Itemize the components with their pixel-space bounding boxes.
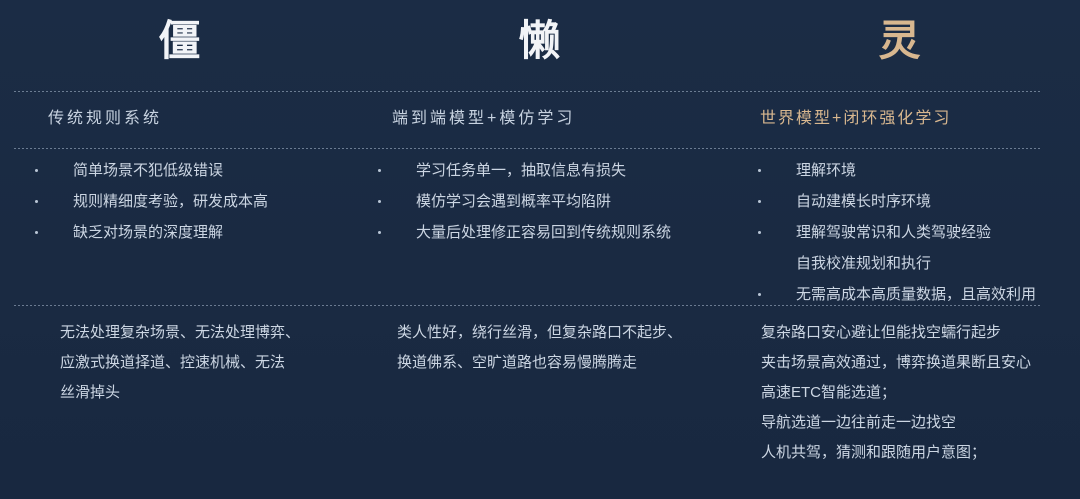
list-item: 大量后处理修正容易回到传统规则系统 [373, 217, 720, 248]
footer-line: 高速ETC智能选道； [761, 378, 1072, 408]
bullet-dot-icon [378, 169, 381, 172]
bullet-list: 学习任务单一，抽取信息有损失 模仿学习会遇到概率平均陷阱 大量后处理修正容易回到… [360, 155, 720, 248]
list-item: 学习任务单一，抽取信息有损失 [373, 155, 720, 186]
footer-line: 导航选道一边往前走一边找空 [761, 408, 1072, 438]
bullet-dot-icon [35, 169, 38, 172]
bullet-dot-icon [758, 200, 761, 203]
column-footer: 类人性好，绕行丝滑，但复杂路口不起步、 换道佛系、空旷道路也容易慢腾腾走 [360, 318, 720, 378]
column-subtitle: 传统规则系统 [0, 104, 360, 134]
column-headline-glyph: 灵 [720, 14, 1080, 68]
list-item-label: 缺乏对场景的深度理解 [73, 224, 223, 241]
list-item: 理解环境 [753, 155, 1080, 186]
column-headline-glyph: 僵 [0, 14, 360, 68]
list-item: 理解驾驶常识和人类驾驶经验 [753, 217, 1080, 248]
list-item: 无需高成本高质量数据，且高效利用 [753, 279, 1080, 310]
bullet-dot-icon [758, 231, 761, 234]
list-item-label: 自动建模长时序环境 [796, 193, 931, 210]
list-item-continuation: 自我校准规划和执行 [753, 248, 1080, 279]
bullet-dot-icon [758, 293, 761, 296]
list-item-label: 理解环境 [796, 162, 856, 179]
footer-line: 夹击场景高效通过，博弈换道果断且安心 [761, 348, 1072, 378]
footer-line: 人机共驾，猜测和跟随用户意图； [761, 438, 1072, 468]
column-footer: 复杂路口安心避让但能找空蠕行起步 夹击场景高效通过，博弈换道果断且安心 高速ET… [720, 318, 1080, 468]
list-item: 缺乏对场景的深度理解 [30, 217, 360, 248]
list-item-label: 简单场景不犯低级错误 [73, 162, 223, 179]
list-item-label: 理解驾驶常识和人类驾驶经验 [796, 224, 991, 241]
column-jiang: 僵 传统规则系统 简单场景不犯低级错误 规则精细度考验，研发成本高 缺乏对场景的… [0, 0, 360, 499]
column-headline-glyph: 懒 [360, 14, 720, 68]
footer-line: 应激式换道择道、控速机械、无法 [60, 348, 352, 378]
bullet-dot-icon [378, 231, 381, 234]
column-subtitle: 端到端模型+模仿学习 [360, 104, 720, 134]
list-item-label: 模仿学习会遇到概率平均陷阱 [416, 193, 611, 210]
footer-line: 复杂路口安心避让但能找空蠕行起步 [761, 318, 1072, 348]
list-item: 简单场景不犯低级错误 [30, 155, 360, 186]
list-item-label: 学习任务单一，抽取信息有损失 [416, 162, 626, 179]
list-item-label: 规则精细度考验，研发成本高 [73, 193, 268, 210]
bullet-dot-icon [378, 200, 381, 203]
list-item-label: 自我校准规划和执行 [796, 255, 931, 272]
slide-canvas: 僵 传统规则系统 简单场景不犯低级错误 规则精细度考验，研发成本高 缺乏对场景的… [0, 0, 1080, 499]
footer-line: 类人性好，绕行丝滑，但复杂路口不起步、 [397, 318, 712, 348]
footer-line: 换道佛系、空旷道路也容易慢腾腾走 [397, 348, 712, 378]
bullet-list: 理解环境 自动建模长时序环境 理解驾驶常识和人类驾驶经验 自我校准规划和执行 无… [720, 155, 1080, 310]
column-footer: 无法处理复杂场景、无法处理博弈、 应激式换道择道、控速机械、无法 丝滑掉头 [0, 318, 360, 408]
column-ling: 灵 世界模型+闭环强化学习 理解环境 自动建模长时序环境 理解驾驶常识和人类驾驶… [720, 0, 1080, 499]
bullet-dot-icon [35, 200, 38, 203]
list-item: 规则精细度考验，研发成本高 [30, 186, 360, 217]
bullet-dot-icon [35, 231, 38, 234]
bullet-list: 简单场景不犯低级错误 规则精细度考验，研发成本高 缺乏对场景的深度理解 [0, 155, 360, 248]
footer-line: 无法处理复杂场景、无法处理博弈、 [60, 318, 352, 348]
columns-container: 僵 传统规则系统 简单场景不犯低级错误 规则精细度考验，研发成本高 缺乏对场景的… [0, 0, 1080, 499]
list-item-label: 无需高成本高质量数据，且高效利用 [796, 286, 1036, 303]
list-item: 自动建模长时序环境 [753, 186, 1080, 217]
bullet-dot-icon [758, 169, 761, 172]
column-lan: 懒 端到端模型+模仿学习 学习任务单一，抽取信息有损失 模仿学习会遇到概率平均陷… [360, 0, 720, 499]
footer-line: 丝滑掉头 [60, 378, 352, 408]
column-subtitle: 世界模型+闭环强化学习 [720, 104, 1080, 134]
list-item-label: 大量后处理修正容易回到传统规则系统 [416, 224, 671, 241]
list-item: 模仿学习会遇到概率平均陷阱 [373, 186, 720, 217]
